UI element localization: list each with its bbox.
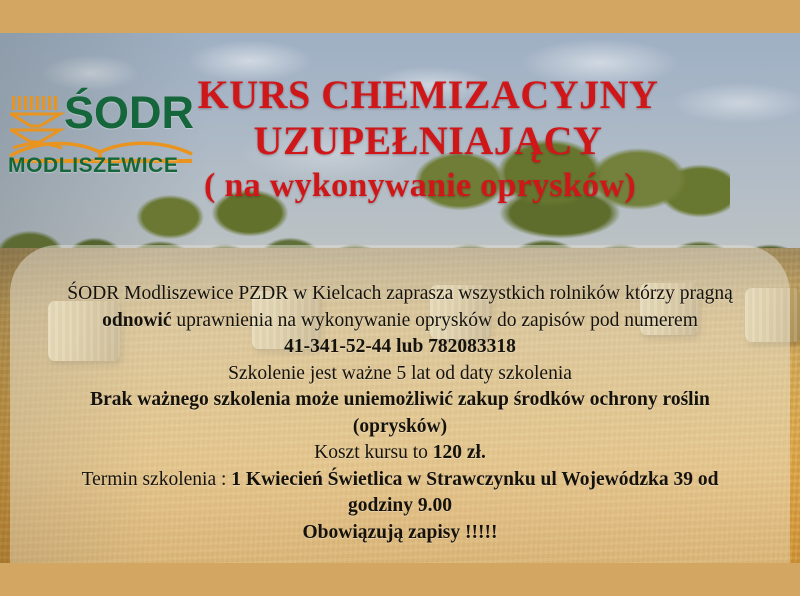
contact-phone-numbers: 41-341-52-44 lub 782083318: [30, 334, 770, 361]
body-line-6: (oprysków): [30, 414, 770, 441]
poster-body: ŚODR Modliszewice PZDR w Kielcach zapras…: [30, 281, 770, 546]
poster-title: KURS CHEMIZACYJNY UZUPEŁNIAJĄCY ( na wyk…: [0, 72, 800, 208]
title-line-3: ( na wykonywanie oprysków): [0, 164, 800, 208]
body-line-2-strong: odnowić: [102, 310, 171, 331]
body-line-2: odnowić uprawnienia na wykonywanie oprys…: [30, 308, 770, 335]
title-line-1: KURS CHEMIZACYJNY: [0, 72, 800, 118]
body-line-5: Brak ważnego szkolenia może uniemożliwić…: [30, 387, 770, 414]
poster: ŚODR MODLISZEWICE KURS CHEMIZACYJNY UZUP…: [0, 0, 800, 596]
course-date-line: Termin szkolenia : 1 Kwiecień Świetlica …: [30, 467, 770, 494]
course-price-line: Koszt kursu to 120 zł.: [30, 440, 770, 467]
body-line-4: Szkolenie jest ważne 5 lat od daty szkol…: [30, 361, 770, 388]
course-date-label: Termin szkolenia :: [82, 469, 232, 490]
course-price-label: Koszt kursu to: [314, 442, 433, 463]
course-date-value: 1 Kwiecień Świetlica w Strawczynku ul Wo…: [231, 469, 718, 490]
registration-notice: Obowiązują zapisy !!!!!: [30, 520, 770, 547]
course-time: godziny 9.00: [30, 493, 770, 520]
course-price-value: 120 zł.: [433, 442, 486, 463]
title-line-2: UZUPEŁNIAJĄCY: [0, 118, 800, 164]
body-line-2-rest: uprawnienia na wykonywanie oprysków do z…: [171, 310, 697, 331]
body-line-1: ŚODR Modliszewice PZDR w Kielcach zapras…: [30, 281, 770, 308]
